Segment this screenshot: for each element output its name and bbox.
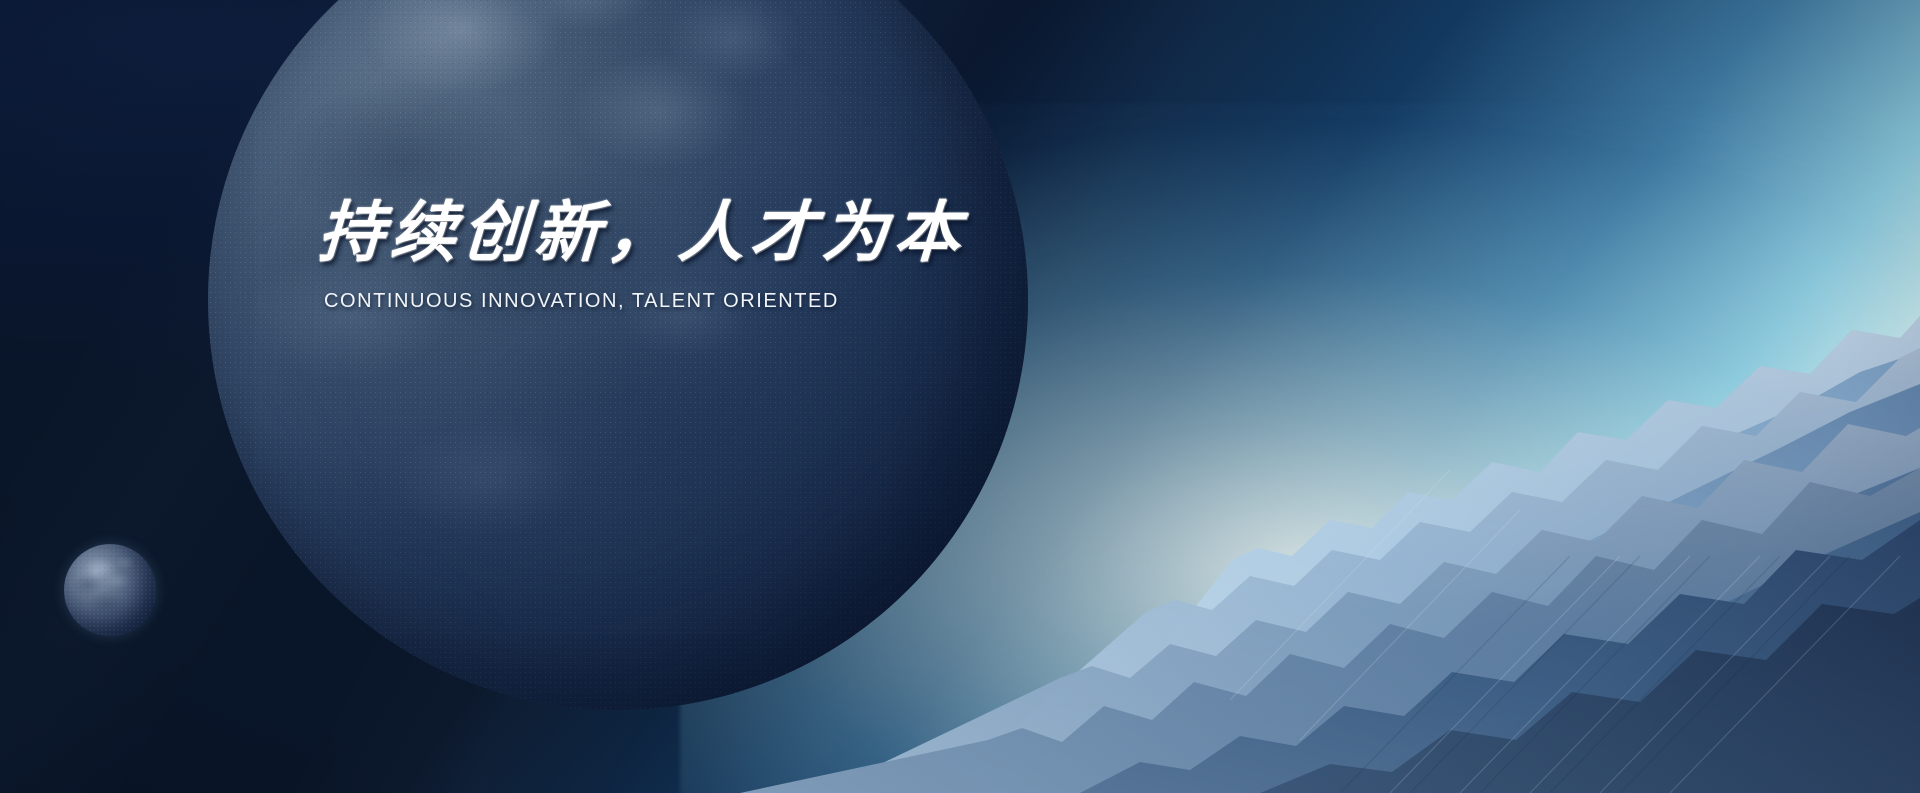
small-moon — [64, 544, 156, 636]
hero-banner: 持续创新，人才为本 CONTINUOUS INNOVATION, TALENT … — [0, 0, 1920, 793]
hero-headline-chinese: 持续创新，人才为本 — [316, 198, 1220, 268]
large-planet — [208, 0, 1028, 710]
hero-subline-english: CONTINUOUS INNOVATION, TALENT ORIENTED — [324, 290, 1218, 313]
hero-copy-block: 持续创新，人才为本 CONTINUOUS INNOVATION, TALENT … — [318, 198, 1218, 313]
moon-bright-rim — [64, 544, 156, 636]
